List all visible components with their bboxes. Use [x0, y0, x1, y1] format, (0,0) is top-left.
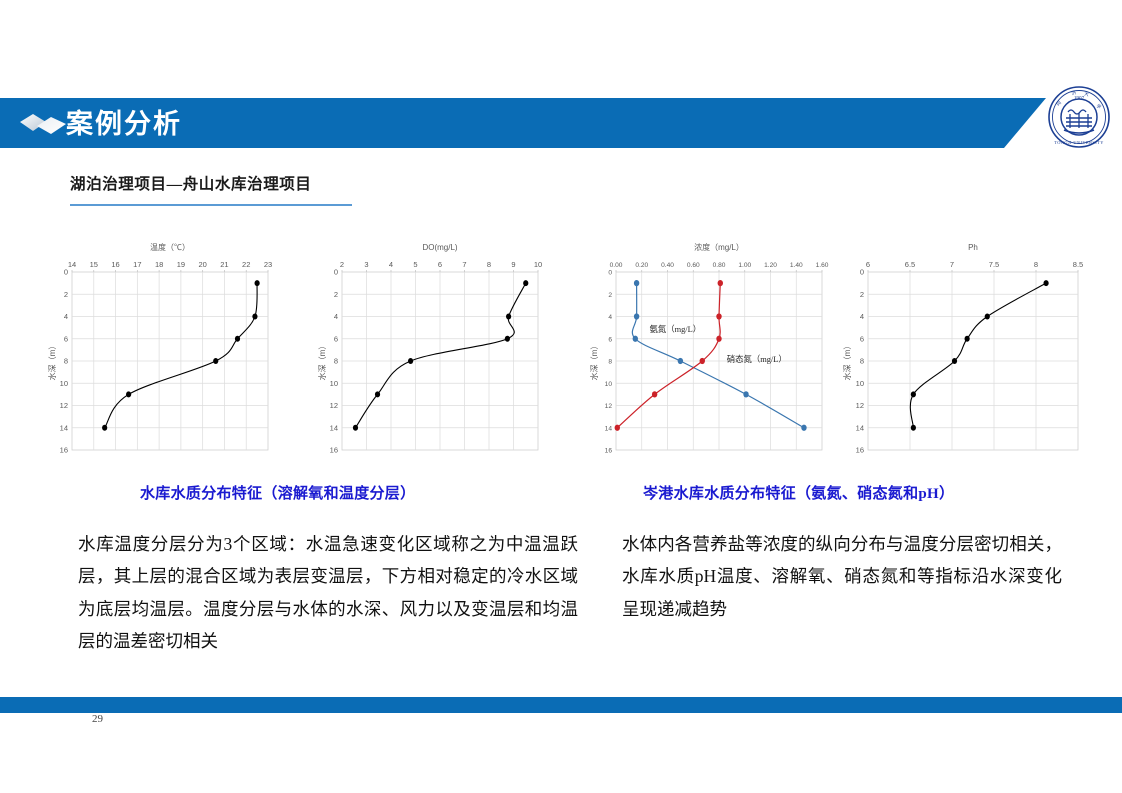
slide-canvas: 案例分析 1907 同 济 大 学 TONGJI UNIVERSITY 湖泊治理…	[0, 0, 1122, 793]
body-paragraph-left: 水库温度分层分为3个区域：水温急速变化区域称之为中温温跃层，其上层的混合区域为表…	[78, 528, 578, 658]
svg-text:0.40: 0.40	[661, 262, 674, 269]
svg-text:8: 8	[334, 357, 338, 366]
svg-text:14: 14	[605, 425, 613, 432]
svg-text:1.40: 1.40	[790, 262, 803, 269]
temperature-depth-chart: 141516171819202122230246810121416温度（℃）水深…	[46, 238, 314, 470]
svg-text:0: 0	[860, 268, 864, 277]
svg-text:12: 12	[330, 401, 338, 410]
double-diamond-icon	[18, 112, 68, 136]
svg-text:14: 14	[68, 260, 76, 269]
svg-text:18: 18	[155, 260, 163, 269]
svg-text:14: 14	[856, 423, 864, 432]
svg-text:水深（m）: 水深（m）	[589, 342, 599, 381]
nitrogen-concentration-depth-chart-svg: 0.000.200.400.600.801.001.201.401.600246…	[586, 238, 838, 470]
svg-text:6: 6	[438, 260, 442, 269]
svg-text:12: 12	[60, 401, 68, 410]
svg-text:1907: 1907	[1074, 96, 1085, 102]
svg-text:大: 大	[1084, 90, 1091, 98]
svg-text:10: 10	[60, 379, 68, 388]
svg-text:DO(mg/L): DO(mg/L)	[422, 243, 457, 252]
svg-text:2: 2	[340, 260, 344, 269]
page-title: 案例分析	[66, 101, 182, 147]
ph-depth-chart-svg: 66.577.588.50246810121416Ph水深（m）	[840, 238, 1102, 470]
body-paragraph-right: 水体内各营养盐等浓度的纵向分布与温度分层密切相关，水库水质pH温度、溶解氧、硝态…	[622, 528, 1062, 625]
nitrogen-concentration-depth-chart: 0.000.200.400.600.801.001.201.401.600246…	[586, 238, 854, 470]
svg-text:7: 7	[950, 260, 954, 269]
svg-text:0: 0	[334, 268, 338, 277]
dissolved-oxygen-depth-chart-svg: 23456789100246810121416DO(mg/L)水深（m）	[316, 238, 584, 470]
svg-text:6: 6	[64, 334, 68, 343]
svg-text:温度（℃）: 温度（℃）	[150, 242, 190, 252]
svg-text:1.20: 1.20	[764, 262, 777, 269]
chart-caption-right: 岑港水库水质分布特征（氨氮、硝态氮和pH）	[643, 482, 954, 503]
svg-text:16: 16	[856, 446, 864, 455]
dissolved-oxygen-depth-chart: 23456789100246810121416DO(mg/L)水深（m）	[316, 238, 584, 470]
svg-text:2: 2	[64, 290, 68, 299]
subtitle-underline	[70, 204, 352, 206]
svg-text:20: 20	[198, 260, 206, 269]
ph-depth-chart: 66.577.588.50246810121416Ph水深（m）	[840, 238, 1108, 470]
svg-text:1.00: 1.00	[738, 262, 751, 269]
tongji-university-logo: 1907 同 济 大 学 TONGJI UNIVERSITY	[1046, 84, 1112, 150]
svg-text:6: 6	[334, 334, 338, 343]
svg-text:8: 8	[608, 359, 612, 366]
svg-text:2: 2	[860, 290, 864, 299]
svg-text:同: 同	[1055, 100, 1063, 108]
svg-text:水深（m）: 水深（m）	[842, 342, 852, 381]
svg-text:8: 8	[487, 260, 491, 269]
svg-text:10: 10	[856, 379, 864, 388]
svg-text:TONGJI UNIVERSITY: TONGJI UNIVERSITY	[1054, 140, 1104, 145]
svg-text:2: 2	[334, 290, 338, 299]
svg-text:3: 3	[364, 260, 368, 269]
svg-text:10: 10	[534, 260, 542, 269]
svg-text:1.60: 1.60	[816, 262, 829, 269]
svg-text:16: 16	[605, 448, 613, 455]
svg-text:6: 6	[860, 334, 864, 343]
svg-text:14: 14	[60, 423, 68, 432]
svg-text:12: 12	[856, 401, 864, 410]
svg-text:氨氮（mg/L）: 氨氮（mg/L）	[649, 324, 701, 334]
svg-text:0.20: 0.20	[635, 262, 648, 269]
chart-caption-left: 水库水质分布特征（溶解氧和温度分层）	[140, 482, 415, 503]
svg-text:Ph: Ph	[968, 243, 978, 252]
svg-text:16: 16	[60, 446, 68, 455]
svg-text:21: 21	[220, 260, 228, 269]
svg-text:8.5: 8.5	[1073, 260, 1083, 269]
svg-text:16: 16	[330, 446, 338, 455]
svg-text:22: 22	[242, 260, 250, 269]
svg-text:0: 0	[608, 270, 612, 277]
svg-text:0.80: 0.80	[713, 262, 726, 269]
svg-text:6: 6	[608, 336, 612, 343]
page-number: 29	[92, 713, 103, 725]
svg-text:10: 10	[330, 379, 338, 388]
svg-text:12: 12	[605, 403, 613, 410]
svg-text:6: 6	[866, 260, 870, 269]
svg-text:2: 2	[608, 292, 612, 299]
svg-text:水深（m）: 水深（m）	[317, 342, 327, 381]
svg-text:15: 15	[90, 260, 98, 269]
svg-text:7.5: 7.5	[989, 260, 999, 269]
svg-text:0: 0	[64, 268, 68, 277]
svg-text:6.5: 6.5	[905, 260, 915, 269]
svg-text:8: 8	[860, 357, 864, 366]
svg-text:4: 4	[64, 312, 68, 321]
section-subtitle: 湖泊治理项目—舟山水库治理项目	[70, 172, 312, 194]
footer-banner	[0, 697, 1122, 713]
svg-text:23: 23	[264, 260, 272, 269]
svg-text:浓度（mg/L）: 浓度（mg/L）	[694, 242, 744, 252]
svg-text:4: 4	[389, 260, 393, 269]
temperature-depth-chart-svg: 141516171819202122230246810121416温度（℃）水深…	[46, 238, 314, 470]
svg-text:4: 4	[860, 312, 864, 321]
svg-text:10: 10	[605, 381, 613, 388]
svg-text:8: 8	[1034, 260, 1038, 269]
svg-text:8: 8	[64, 357, 68, 366]
svg-text:4: 4	[334, 312, 338, 321]
svg-text:14: 14	[330, 423, 338, 432]
svg-text:硝态氮（mg/L）: 硝态氮（mg/L）	[727, 354, 787, 364]
svg-text:9: 9	[511, 260, 515, 269]
svg-text:7: 7	[462, 260, 466, 269]
svg-text:19: 19	[177, 260, 185, 269]
svg-text:5: 5	[413, 260, 417, 269]
svg-text:水深（m）: 水深（m）	[47, 342, 57, 381]
svg-text:4: 4	[608, 314, 612, 321]
svg-text:0.60: 0.60	[687, 262, 700, 269]
svg-text:0.00: 0.00	[610, 262, 623, 269]
svg-text:17: 17	[133, 260, 141, 269]
svg-text:16: 16	[111, 260, 119, 269]
